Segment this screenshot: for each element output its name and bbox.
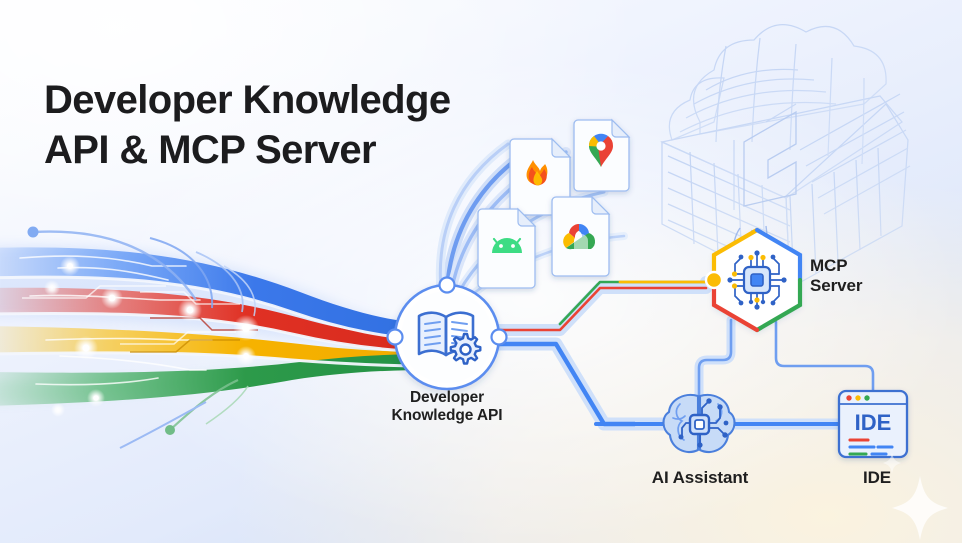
infographic-canvas: IDE Developer Knowledge API & MCP Server…: [0, 0, 962, 543]
port-left[interactable]: [388, 330, 403, 345]
label-ai-assistant: AI Assistant: [620, 468, 780, 488]
doc-maps[interactable]: [574, 120, 629, 191]
node-ide[interactable]: IDE: [839, 391, 907, 457]
connector-red: [499, 288, 706, 330]
connector-mcp-ide: [776, 322, 873, 392]
ide-window-text: IDE: [855, 410, 892, 435]
gear-icon: [451, 334, 481, 364]
brain-circuit-icon: [663, 395, 734, 452]
label-developer-knowledge-api: Developer Knowledge API: [352, 389, 542, 426]
label-ide: IDE: [822, 468, 932, 488]
node-developer-knowledge-api[interactable]: [388, 278, 507, 390]
port-top[interactable]: [440, 278, 455, 293]
doc-android[interactable]: [478, 209, 535, 288]
label-mcp-server: MCP Server: [810, 256, 960, 296]
node-mcp-server[interactable]: [706, 230, 800, 330]
node-ai-assistant[interactable]: [663, 395, 734, 452]
window-traffic-dots: [846, 395, 869, 400]
doc-cloud[interactable]: [552, 197, 609, 276]
port-mcp-left[interactable]: [706, 272, 722, 288]
port-right[interactable]: [492, 330, 507, 345]
page-title: Developer Knowledge API & MCP Server: [44, 76, 450, 175]
